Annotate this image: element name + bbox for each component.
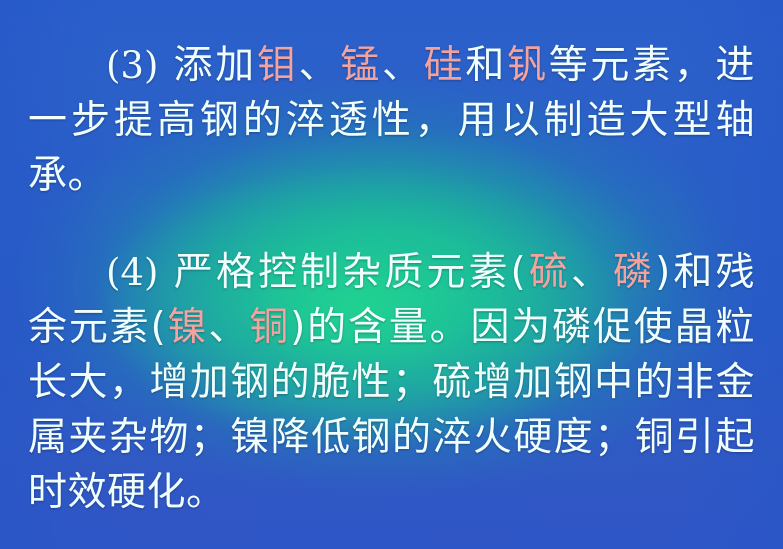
paragraph-3-text-2: 和 — [465, 43, 507, 88]
paragraph-4-sep-1: 、 — [571, 250, 613, 295]
element-vanadium: 钒 — [507, 43, 549, 88]
paragraph-3-sep-2: 、 — [382, 43, 424, 88]
paragraph-spacer-2 — [28, 520, 755, 549]
element-copper: 铜 — [249, 305, 290, 350]
paragraph-4-sep-2: 、 — [208, 305, 249, 350]
paragraph-4-text-1: 严格控制杂质元素( — [174, 250, 526, 295]
paragraph-4: (4) 严格控制杂质元素(硫、磷)和残余元素(镍、铜)的含量。因为磷促使晶粒长大… — [28, 245, 755, 520]
element-manganese: 锰 — [340, 43, 382, 88]
element-sulfur: 硫 — [526, 250, 571, 295]
element-silicon: 硅 — [424, 43, 466, 88]
paragraph-spacer-1 — [28, 203, 755, 245]
paragraph-3: (3) 添加钼、锰、硅和钒等元素，进一步提高钢的淬透性，用以制造大型轴承。 — [28, 38, 755, 203]
paragraph-3-sep-1: 、 — [299, 43, 341, 88]
slide-canvas: (3) 添加钼、锰、硅和钒等元素，进一步提高钢的淬透性，用以制造大型轴承。 (4… — [0, 0, 783, 549]
paragraph-3-number: (3) — [106, 44, 158, 87]
element-phosphorus: 磷 — [613, 250, 655, 295]
paragraph-4-number: (4) — [106, 251, 158, 294]
slide-text-body: (3) 添加钼、锰、硅和钒等元素，进一步提高钢的淬透性，用以制造大型轴承。 (4… — [0, 0, 783, 549]
paragraph-3-text-1: 添加 — [174, 43, 257, 88]
element-molybdenum: 钼 — [257, 43, 299, 88]
element-nickel: 镍 — [166, 305, 208, 350]
